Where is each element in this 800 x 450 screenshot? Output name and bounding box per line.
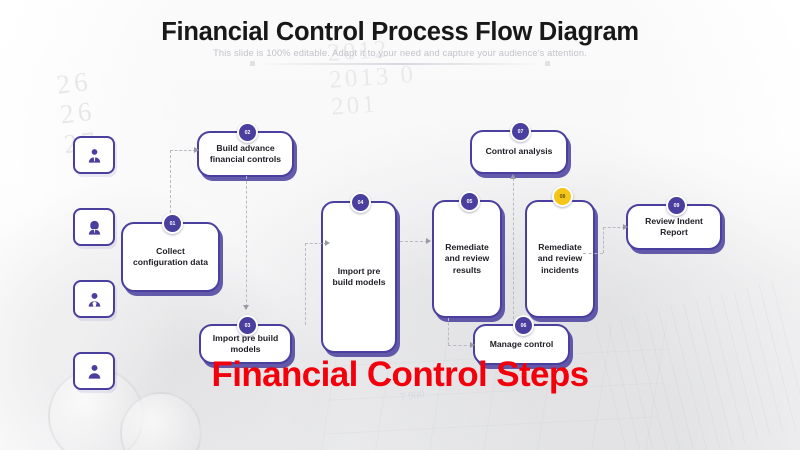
- arrow-05-to-06: [470, 342, 475, 348]
- flow-badge-03: 03: [237, 315, 258, 336]
- flow-node-import-pre-build-models-04[interactable]: Import pre build models: [321, 201, 397, 353]
- connector-03-to-04-horizontal: [305, 243, 327, 244]
- person-tie-icon: [86, 147, 103, 164]
- flow-node-label: Remediate and review results: [440, 242, 494, 277]
- divider-cap-left: [250, 61, 255, 66]
- connector-08-to-09-horizontal: [603, 227, 625, 228]
- arrow-04-to-05: [426, 238, 431, 244]
- avatar-person-1[interactable]: [73, 136, 115, 174]
- connector-05-to-06-vertical: [448, 318, 449, 345]
- connector-06-to-07-vertical: [513, 178, 514, 324]
- connector-04-to-05: [400, 241, 428, 242]
- flow-node-label: Remediate and review incidents: [533, 242, 587, 277]
- flow-node-label: Control analysis: [486, 146, 553, 158]
- avatar-person-3[interactable]: [73, 280, 115, 318]
- avatar-person-2[interactable]: [73, 208, 115, 246]
- flow-node-label: Import pre build models: [329, 266, 389, 289]
- flow-node-remediate-review-incidents[interactable]: Remediate and review incidents: [525, 200, 595, 318]
- flow-badge-05: 05: [459, 191, 480, 212]
- arrow-02-to-03: [243, 305, 249, 310]
- flow-badge-01: 01: [162, 213, 183, 234]
- flow-badge-08: 08: [552, 186, 573, 207]
- connector-02-to-03-vertical: [246, 176, 247, 307]
- divider-cap-right: [545, 61, 550, 66]
- arrow-01-to-02: [194, 147, 199, 153]
- flow-badge-04: 04: [350, 192, 371, 213]
- flow-badge-06: 06: [513, 315, 534, 336]
- page-title: Financial Control Process Flow Diagram: [0, 18, 800, 47]
- header-divider: [240, 61, 560, 67]
- connector-08-to-09-vertical: [603, 227, 604, 253]
- connector-05-to-06-horizontal: [448, 345, 472, 346]
- flow-badge-02: 02: [237, 122, 258, 143]
- flow-node-label: Collect configuration data: [129, 246, 212, 269]
- flow-node-label: Review Indent Report: [634, 216, 714, 239]
- connector-01-to-02-horizontal: [170, 150, 196, 151]
- connector-03-to-04-vertical: [305, 243, 306, 325]
- connector-08-to-09-stub: [583, 253, 603, 254]
- flow-badge-07: 07: [510, 121, 531, 142]
- arrow-06-to-07: [510, 174, 516, 179]
- person-long-hair-icon: [86, 219, 103, 236]
- divider-bar: [258, 63, 542, 65]
- page-subtitle: This slide is 100% editable. Adapt it to…: [0, 48, 800, 58]
- flow-node-label: Manage control: [490, 339, 554, 351]
- person-icon: [86, 291, 103, 308]
- overlay-caption: Financial Control Steps: [0, 355, 800, 395]
- slide-canvas: 26 26 27 2012 2013 0 201 Financial Contr…: [0, 0, 800, 450]
- arrow-08-to-09: [623, 224, 628, 230]
- flow-badge-09: 09: [666, 195, 687, 216]
- flow-node-remediate-review-results[interactable]: Remediate and review results: [432, 200, 502, 318]
- flow-node-label: Build advance financial controls: [205, 143, 286, 166]
- arrow-03-to-04: [325, 240, 330, 246]
